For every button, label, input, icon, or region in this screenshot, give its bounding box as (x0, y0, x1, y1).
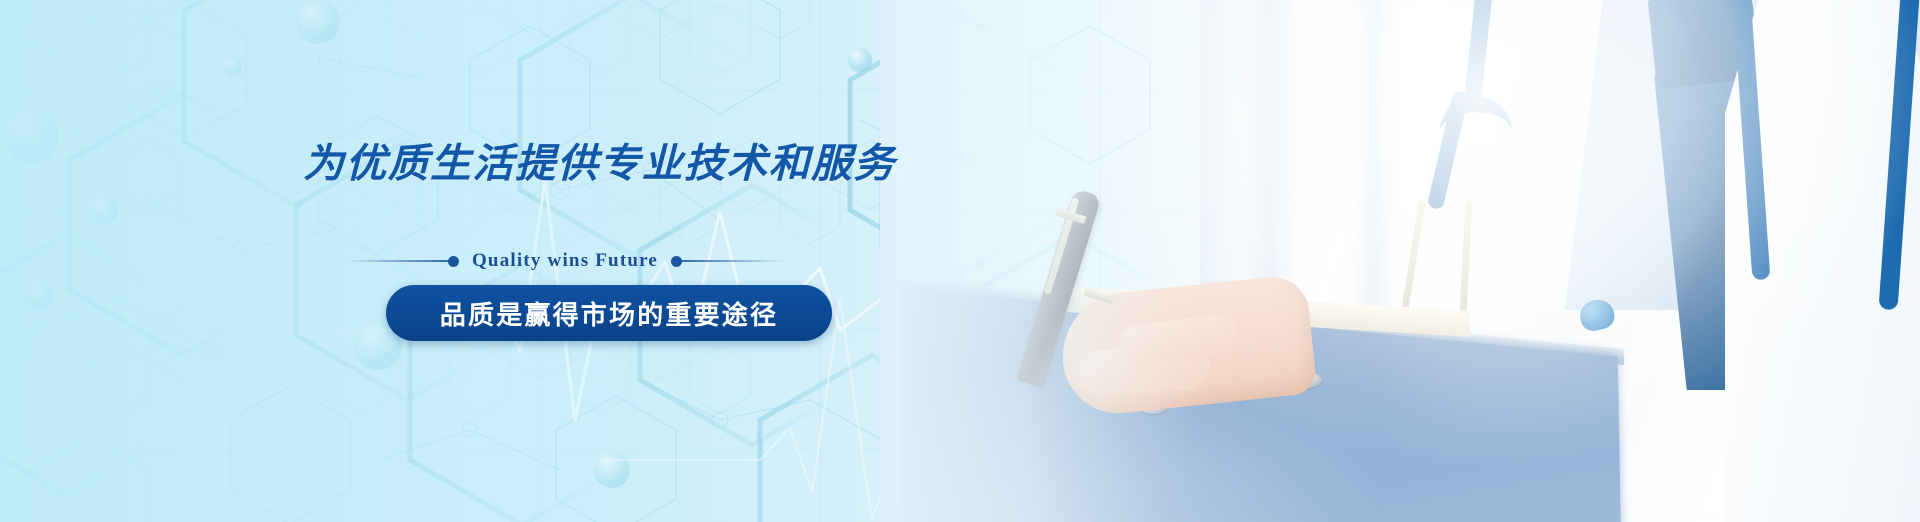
slogan-pill-label: 品质是赢得市场的重要途径 (440, 295, 778, 332)
tagline-dot-right (671, 256, 682, 267)
slogan-pill-button[interactable]: 品质是赢得市场的重要途径 (386, 285, 832, 341)
tagline-rule-left (345, 260, 448, 262)
tagline-rule-right (682, 260, 785, 262)
page-title: 为优质生活提供专业技术和服务 (303, 131, 896, 189)
banner-content: 为优质生活提供专业技术和服务 Quality wins Future 品质是赢得… (0, 0, 1920, 522)
tagline-row: Quality wins Future (345, 250, 785, 272)
promo-banner: 为优质生活提供专业技术和服务 Quality wins Future 品质是赢得… (0, 0, 1920, 522)
tagline-dot-left (448, 256, 459, 267)
tagline-english: Quality wins Future (459, 250, 671, 272)
